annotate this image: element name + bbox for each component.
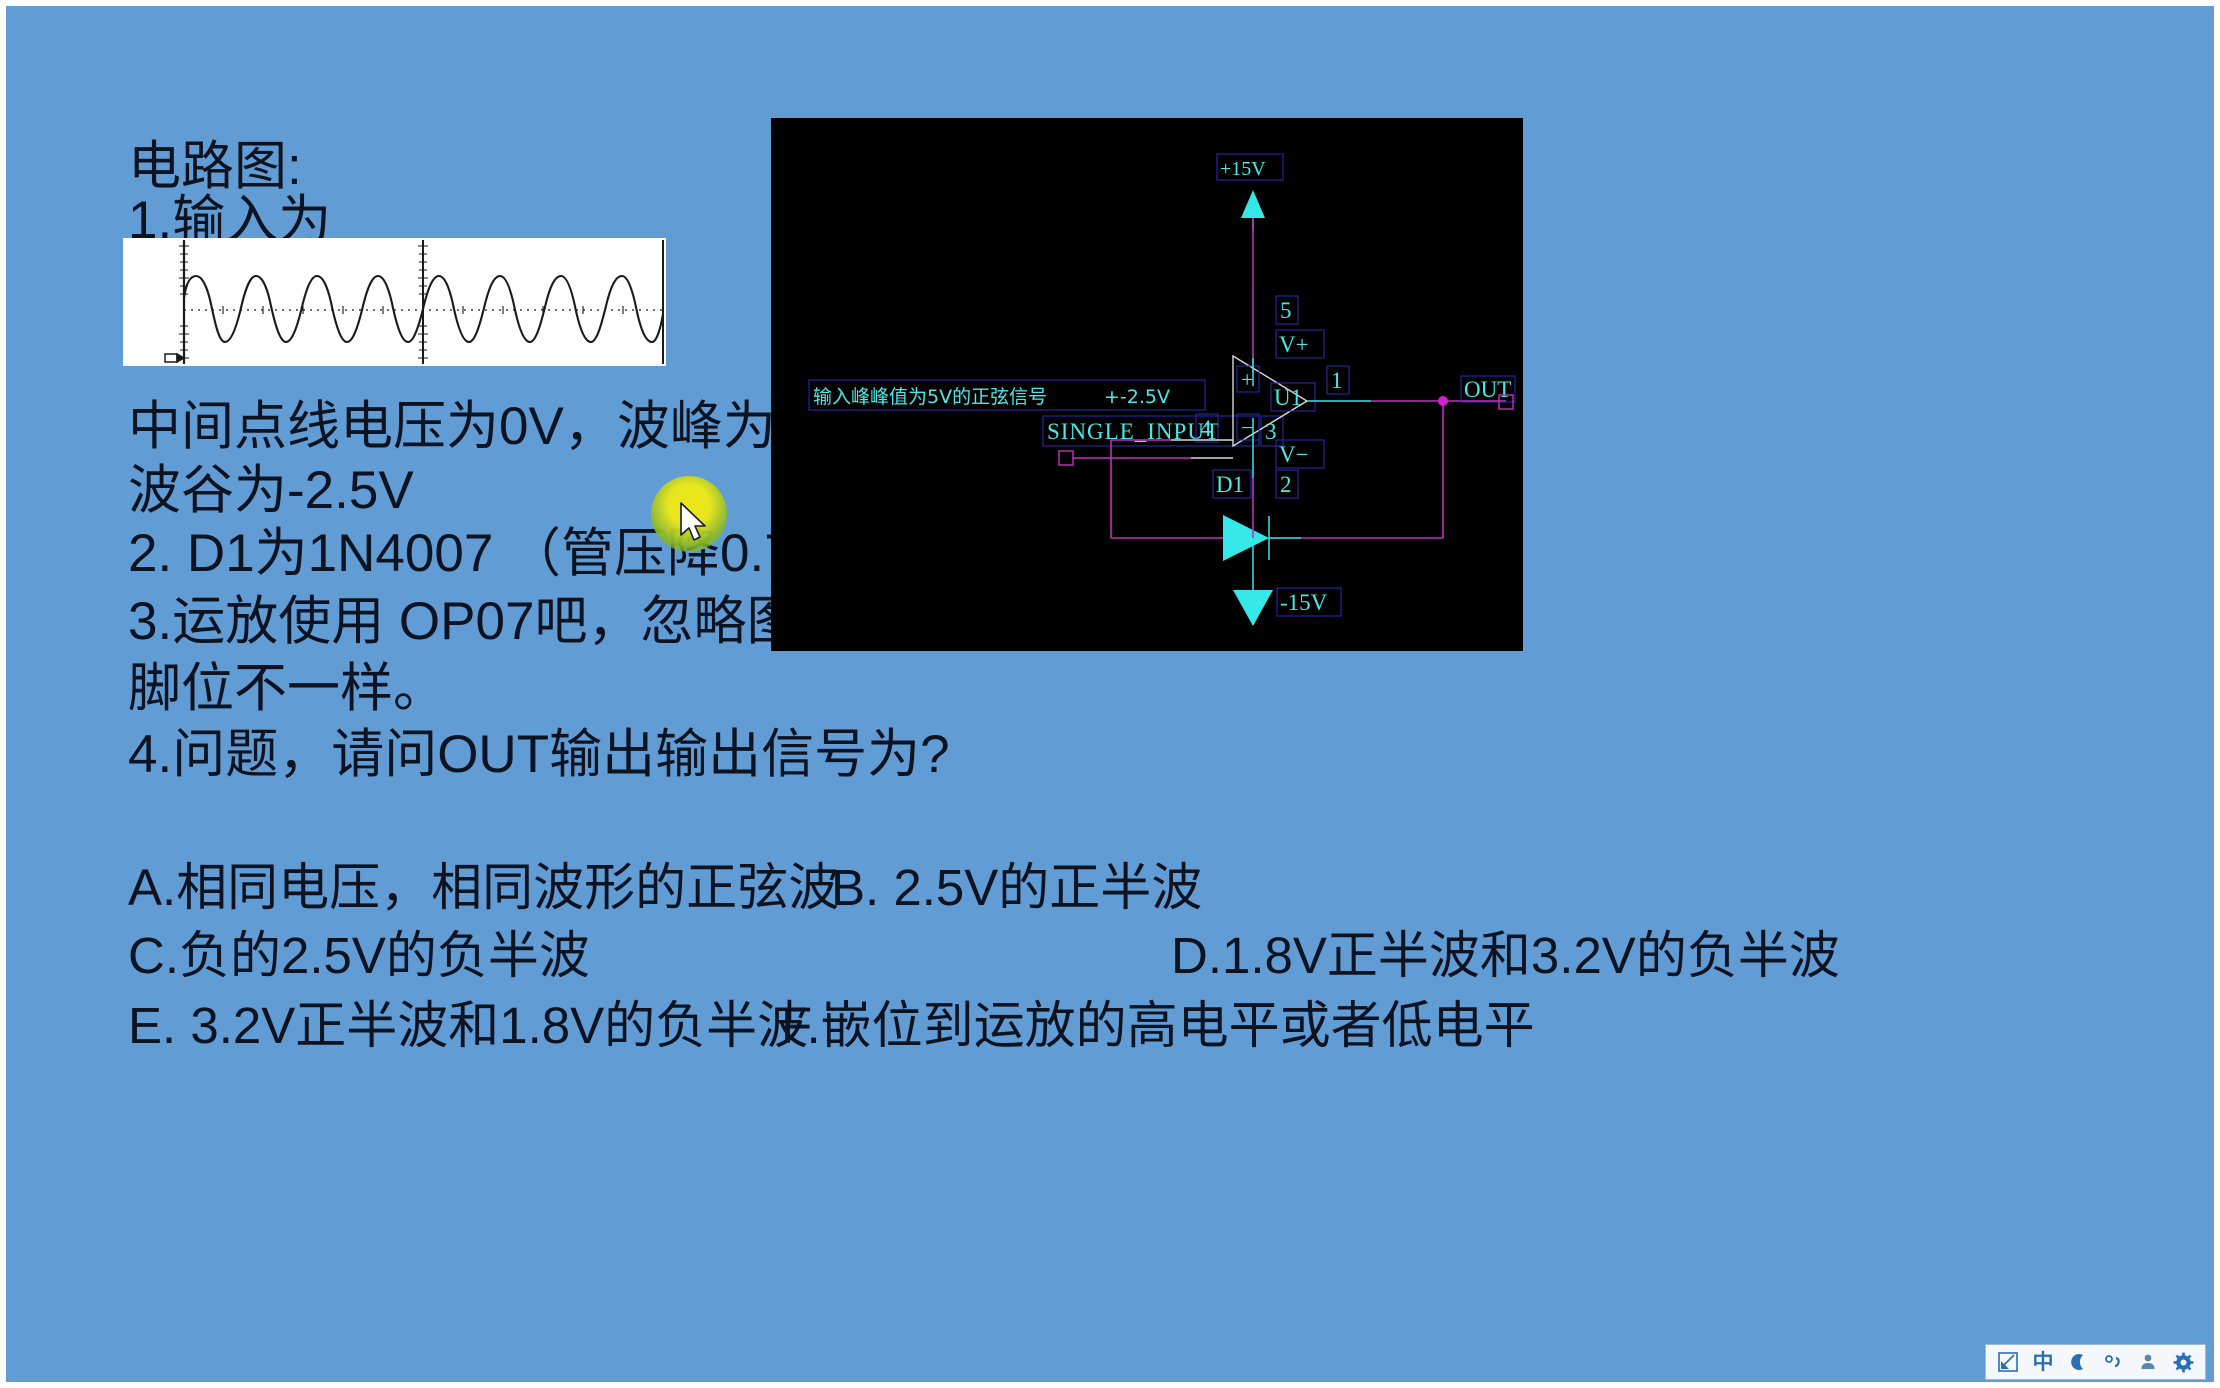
option-a: A.相同电压，相同波形的正弦波: [128, 846, 839, 920]
option-b: B. 2.5V的正半波: [831, 846, 1202, 920]
option-e: E. 3.2V正半波和1.8V的负半波: [128, 984, 808, 1058]
circuit-schematic-panel: .cw{stroke:#c030c0;stroke-width:1.6;fill…: [771, 118, 1523, 651]
circuit-svg: .cw{stroke:#c030c0;stroke-width:1.6;fill…: [771, 118, 1523, 651]
option-d: D.1.8V正半波和3.2V的负半波: [1171, 914, 1840, 988]
person-icon[interactable]: [2135, 1349, 2161, 1375]
pin-4-label: 4: [1200, 416, 1212, 441]
vminus-label: V−: [1279, 442, 1309, 467]
body-line-5: 脚位不一样。: [128, 646, 446, 722]
pin-2-label: 2: [1280, 472, 1292, 497]
oscilloscope-waveform-image: [123, 238, 666, 366]
body-line-3: 2. D1为1N4007 （管压降0.7V）: [128, 511, 882, 587]
diode-reference: D1: [1216, 472, 1244, 497]
pin-5-label: 5: [1280, 298, 1292, 323]
opamp-noninverting-input: +: [1241, 367, 1253, 392]
sogou-logo-icon[interactable]: [1995, 1349, 2021, 1375]
gear-icon[interactable]: [2170, 1349, 2196, 1375]
input-note-value: +-2.5V: [1104, 386, 1170, 408]
input-note-cn: 输入峰峰值为5V的正弦信号: [813, 386, 1047, 408]
option-c: C.负的2.5V的负半波: [128, 914, 590, 988]
moon-icon[interactable]: [2065, 1349, 2091, 1375]
vplus-label: V+: [1279, 332, 1309, 357]
opamp-reference: U1: [1274, 385, 1302, 410]
option-f: F.嵌位到运放的高电平或者低电平: [781, 984, 1535, 1058]
comma-icon[interactable]: [2100, 1349, 2126, 1375]
body-line-6: 4.问题，请问OUT输出输出信号为?: [128, 712, 950, 788]
pin-1-label: 1: [1331, 368, 1343, 393]
out-net-label: OUT: [1464, 377, 1511, 402]
ime-language-mode[interactable]: 中: [2030, 1349, 2056, 1375]
ime-toolbar[interactable]: 中: [1985, 1344, 2206, 1380]
waveform-svg: [123, 238, 666, 366]
presentation-slide: 电路图: 1.输入为: [0, 0, 2220, 1388]
supply-minus-label: -15V: [1280, 590, 1328, 615]
supply-plus-label: +15V: [1220, 158, 1266, 180]
opamp-inverting-input: −: [1241, 415, 1253, 440]
